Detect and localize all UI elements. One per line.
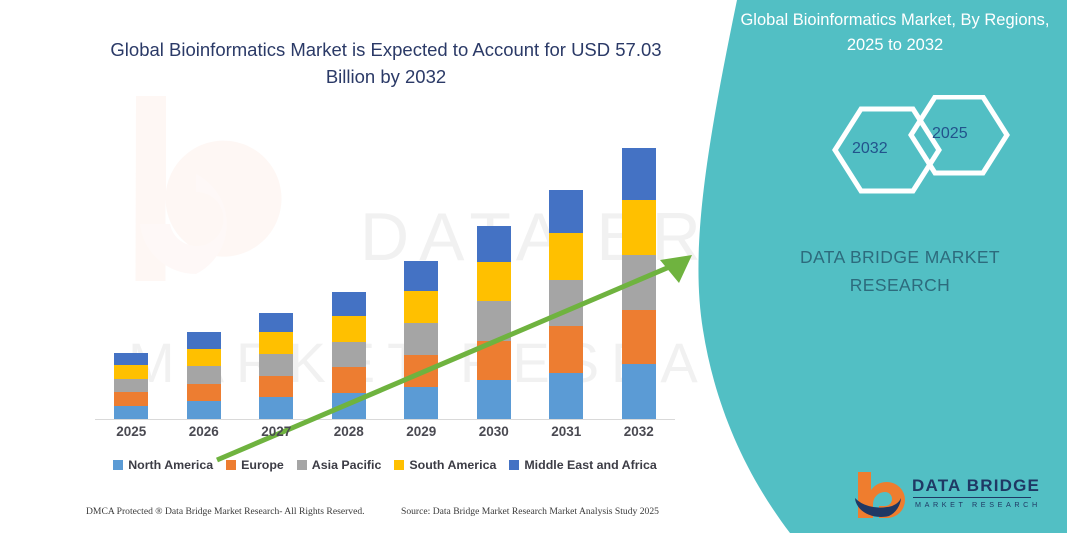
bar-2032 <box>622 148 656 419</box>
x-axis-label-2031: 2031 <box>536 424 596 439</box>
bar-segment <box>622 364 656 419</box>
legend-swatch-icon <box>113 460 123 470</box>
logo-mark-icon <box>855 468 911 518</box>
bar-segment <box>332 292 366 316</box>
panel-title: Global Bioinformatics Market, By Regions… <box>730 8 1060 58</box>
bar-segment <box>404 261 438 291</box>
x-axis-label-2032: 2032 <box>609 424 669 439</box>
x-axis-label-2026: 2026 <box>174 424 234 439</box>
panel-brand-name: DATA BRIDGE MARKET RESEARCH <box>755 243 1045 299</box>
x-axis-label-2025: 2025 <box>101 424 161 439</box>
bar-segment <box>187 401 221 419</box>
bar-segment <box>114 406 148 419</box>
bar-segment <box>187 349 221 367</box>
bar-segment <box>622 148 656 201</box>
x-axis-label-2030: 2030 <box>464 424 524 439</box>
legend-label: Asia Pacific <box>312 458 382 472</box>
bar-segment <box>259 354 293 376</box>
bar-segment <box>114 392 148 405</box>
legend-swatch-icon <box>297 460 307 470</box>
legend-label: Europe <box>241 458 284 472</box>
bar-segment <box>477 380 511 419</box>
bar-2027 <box>259 313 293 419</box>
bar-segment <box>549 326 583 372</box>
logo-divider <box>913 497 1031 498</box>
bar-segment <box>332 316 366 342</box>
legend-label: South America <box>409 458 496 472</box>
legend-item[interactable]: Europe <box>226 458 284 472</box>
chart-axis-line <box>95 419 675 420</box>
chart-legend: North AmericaEuropeAsia PacificSouth Ame… <box>95 455 675 475</box>
bar-segment <box>332 367 366 393</box>
panel-content: Global Bioinformatics Market, By Regions… <box>735 0 1067 533</box>
legend-item[interactable]: Middle East and Africa <box>509 458 656 472</box>
legend-swatch-icon <box>226 460 236 470</box>
x-axis-label-2029: 2029 <box>391 424 451 439</box>
bar-2030 <box>477 226 511 419</box>
bar-segment <box>622 200 656 255</box>
bar-2031 <box>549 190 583 419</box>
bar-segment <box>477 341 511 380</box>
bar-segment <box>477 226 511 262</box>
hexagon-label-2032: 2032 <box>852 140 888 158</box>
bar-segment <box>477 262 511 301</box>
bar-segment <box>187 366 221 384</box>
legend-swatch-icon <box>509 460 519 470</box>
bar-segment <box>404 323 438 355</box>
footer-copyright: DMCA Protected ® Data Bridge Market Rese… <box>86 506 365 517</box>
legend-label: North America <box>128 458 213 472</box>
bar-segment <box>549 373 583 419</box>
bar-segment <box>549 280 583 326</box>
bar-segment <box>622 255 656 310</box>
logo-text-secondary: MARKET RESEARCH <box>915 500 1041 509</box>
infographic-canvas: DATA BRIDGE MARKET RESEARCH Global Bioin… <box>0 0 1067 533</box>
footer: DMCA Protected ® Data Bridge Market Rese… <box>0 506 690 528</box>
footer-source: Source: Data Bridge Market Research Mark… <box>401 506 659 517</box>
bar-segment <box>404 291 438 323</box>
bar-segment <box>259 376 293 398</box>
legend-swatch-icon <box>394 460 404 470</box>
hexagon-badges: 2032 2025 <box>815 95 1035 205</box>
bar-2025 <box>114 353 148 419</box>
x-axis-label-2027: 2027 <box>246 424 306 439</box>
legend-item[interactable]: South America <box>394 458 496 472</box>
chart-x-axis-labels: 20252026202720282029203020312032 <box>95 424 675 444</box>
x-axis-label-2028: 2028 <box>319 424 379 439</box>
page-title: Global Bioinformatics Market is Expected… <box>96 36 676 90</box>
bar-segment <box>114 379 148 392</box>
bar-segment <box>332 342 366 368</box>
legend-item[interactable]: North America <box>113 458 213 472</box>
legend-label: Middle East and Africa <box>524 458 656 472</box>
bar-segment <box>332 393 366 419</box>
bar-segment <box>259 313 293 333</box>
bar-segment <box>114 365 148 378</box>
bar-segment <box>114 353 148 365</box>
hexagon-label-2025: 2025 <box>932 125 968 143</box>
company-logo: DATA BRIDGE MARKET RESEARCH <box>855 468 1055 524</box>
bar-2028 <box>332 292 366 419</box>
bar-segment <box>404 355 438 387</box>
bar-segment <box>549 233 583 279</box>
legend-item[interactable]: Asia Pacific <box>297 458 382 472</box>
bar-segment <box>404 387 438 419</box>
bar-segment <box>187 384 221 402</box>
bar-segment <box>477 301 511 340</box>
logo-text-primary: DATA BRIDGE <box>912 476 1040 496</box>
bar-segment <box>187 332 221 348</box>
bar-segment <box>622 310 656 365</box>
bar-segment <box>259 397 293 419</box>
bar-segment <box>259 332 293 354</box>
bar-segment <box>549 190 583 233</box>
bar-2029 <box>404 261 438 419</box>
bar-2026 <box>187 332 221 419</box>
stacked-bar-chart <box>95 120 675 420</box>
